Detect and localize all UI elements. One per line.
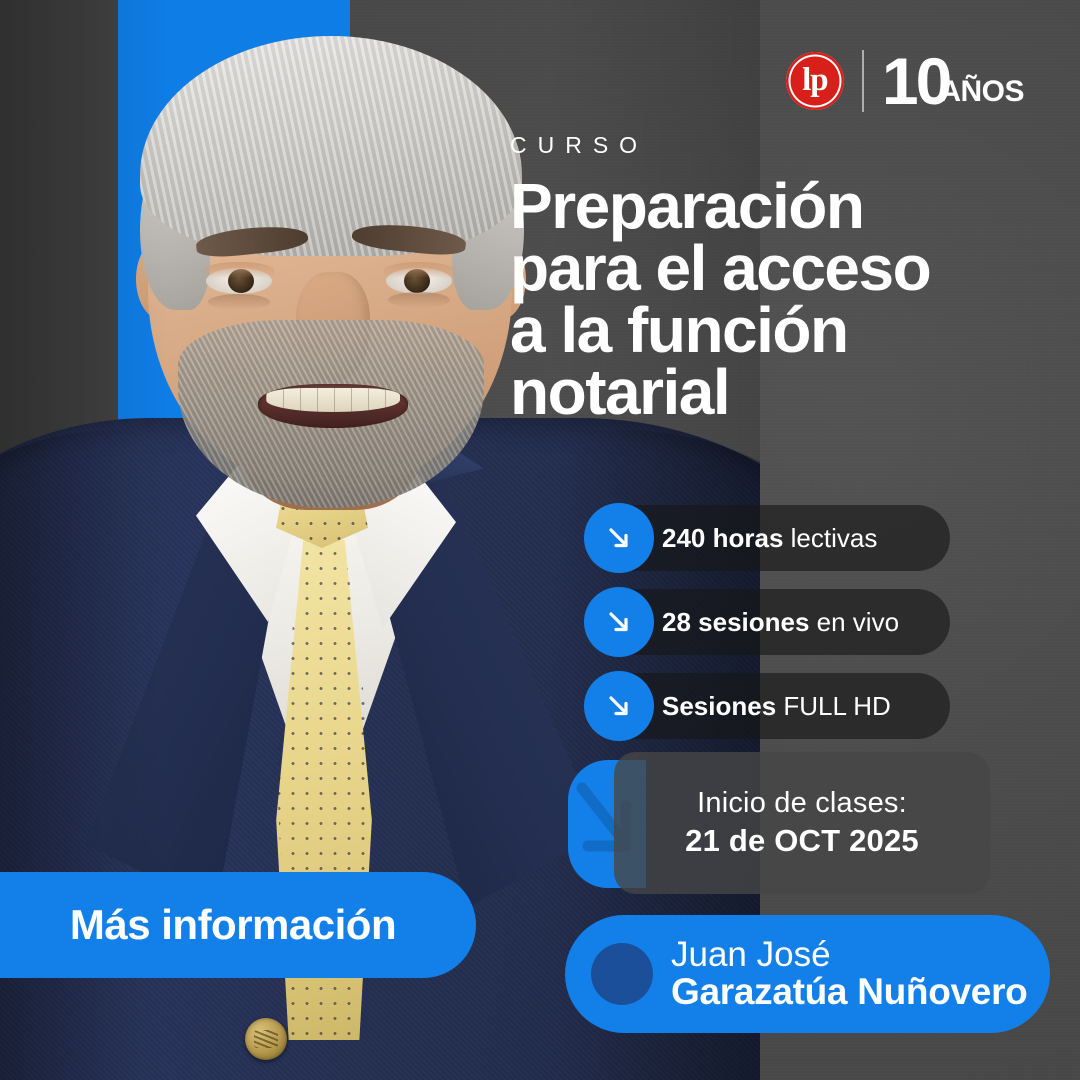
feature-bold: Sesiones [662,691,776,721]
arrow-down-right-icon [584,671,654,741]
lp-logo-text: lp [802,64,828,97]
speaker-name: Juan José Garazatúa Nuñovero [671,937,1027,1012]
eyebrow-label: CURSO [510,132,1040,159]
feature-item: Sesiones FULL HD [600,673,950,739]
arrow-down-right-icon [584,587,654,657]
feature-rest: FULL HD [776,691,891,721]
feature-list: 240 horas lectivas 28 sesiones en vivo S… [600,505,950,757]
course-promo-poster: lp 10 AÑOS CURSO Preparación para el acc… [0,0,1080,1080]
more-info-label: Más información [70,901,396,949]
avatar [591,943,653,1005]
start-date-card: Inicio de clases: 21 de OCT 2025 [614,752,990,894]
title-line-3: a la función [510,299,1040,361]
arrow-down-right-icon [584,503,654,573]
start-date-value: 21 de OCT 2025 [685,823,919,859]
logo-divider [862,50,864,112]
title-line-1: Preparación [510,175,1040,237]
speaker-first-name: Juan José [671,937,1027,973]
more-info-button[interactable]: Más información [0,872,476,978]
feature-item: 28 sesiones en vivo [600,589,950,655]
feature-label: 28 sesiones en vivo [662,607,899,638]
anniversary-lockup: 10 AÑOS [882,54,1024,108]
brand-logo: lp 10 AÑOS [786,50,1024,112]
feature-bold: 240 horas [662,523,783,553]
feature-rest: en vivo [809,607,899,637]
title-line-2: para el acceso [510,237,1040,299]
start-date-label: Inicio de clases: [697,787,907,820]
feature-item: 240 horas lectivas [600,505,950,571]
feature-label: 240 horas lectivas [662,523,877,554]
headline-block: CURSO Preparación para el acceso a la fu… [510,132,1040,423]
speaker-last-name: Garazatúa Nuñovero [671,973,1027,1011]
title-line-4: notarial [510,361,1040,423]
feature-label: Sesiones FULL HD [662,691,891,722]
page-title: Preparación para el acceso a la función … [510,175,1040,423]
feature-bold: 28 sesiones [662,607,809,637]
speaker-card: Juan José Garazatúa Nuñovero [565,915,1050,1033]
lp-logo-icon: lp [786,52,844,110]
feature-rest: lectivas [783,523,877,553]
anniversary-word: AÑOS [939,77,1024,107]
